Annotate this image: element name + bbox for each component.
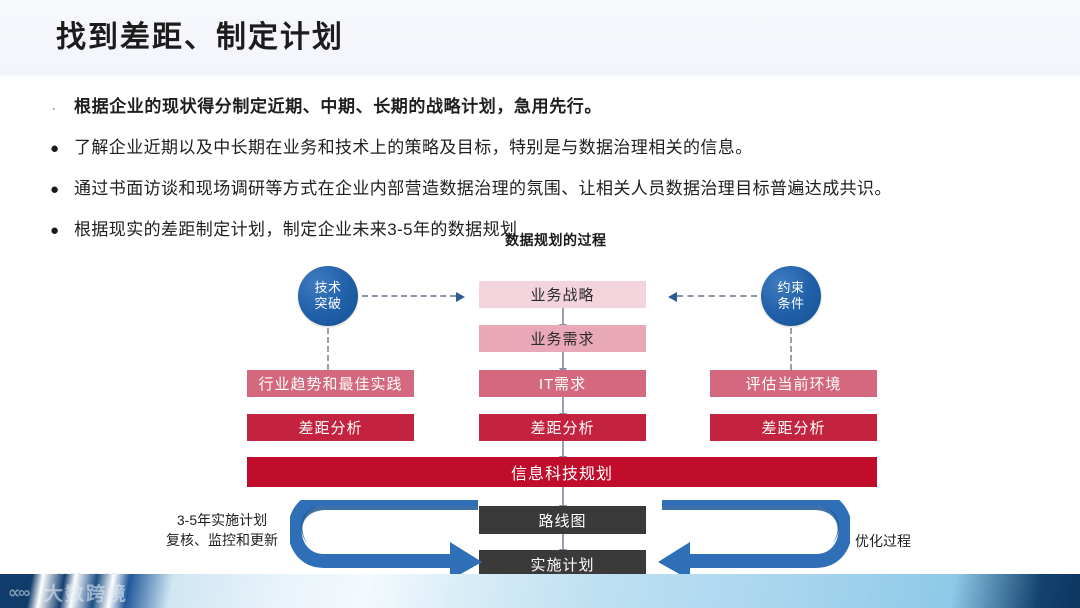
node-assess-environment: 评估当前环境	[710, 370, 877, 397]
loop-arrow-right-icon	[655, 500, 850, 582]
list-item: ● 通过书面访谈和现场调研等方式在企业内部营造数据治理的氛围、让相关人员数据治理…	[48, 178, 1058, 219]
label-line1: 3-5年实施计划	[152, 510, 292, 530]
page-title: 找到差距、制定计划	[56, 16, 344, 60]
node-business-strategy: 业务战略	[479, 281, 646, 308]
dashed-connector-left	[327, 328, 329, 370]
node-constraints: 约束 条件	[761, 266, 821, 326]
bullet-text: 根据企业的现状得分制定近期、中期、长期的战略计划，急用先行。	[74, 96, 602, 118]
slide-root: 找到差距、制定计划 · 根据企业的现状得分制定近期、中期、长期的战略计划，急用先…	[0, 0, 1080, 608]
bullet-marker-icon: ·	[48, 98, 74, 120]
diagram-title: 数据规划的过程	[505, 230, 607, 250]
arrow-summary-to-roadmap	[562, 487, 564, 506]
watermark-text: 大数跨境	[44, 579, 128, 606]
node-it-requirement: IT需求	[479, 370, 646, 397]
node-technology-breakthrough: 技术 突破	[298, 266, 358, 326]
footer-decoration-band	[0, 574, 1080, 608]
node-roadmap: 路线图	[479, 506, 646, 534]
arrow-strategy-to-requirement	[562, 308, 564, 325]
arrow-roadmap-to-implementation	[562, 534, 564, 550]
process-diagram: 数据规划的过程 技术 突破 约束 条件 行业趋势和最佳实践 差距分析 业务战略 …	[0, 228, 1080, 578]
list-item: ● 了解企业近期以及中长期在业务和技术上的策略及目标，特别是与数据治理相关的信息…	[48, 137, 1058, 178]
dashed-connector-right	[790, 328, 792, 370]
arrow-it-to-gap	[562, 397, 564, 414]
dashed-arrow-left-to-center	[362, 295, 456, 297]
node-gap-analysis-right: 差距分析	[710, 414, 877, 441]
node-label-line2: 条件	[777, 296, 804, 312]
dashed-arrow-right-to-center	[677, 295, 757, 297]
list-item: · 根据企业的现状得分制定近期、中期、长期的战略计划，急用先行。	[48, 96, 1058, 137]
node-label-line2: 突破	[314, 296, 341, 312]
node-it-planning-summary: 信息科技规划	[247, 457, 877, 487]
bullet-text: 通过书面访谈和现场调研等方式在企业内部营造数据治理的氛围、让相关人员数据治理目标…	[74, 178, 892, 200]
bullet-marker-icon: ●	[48, 138, 74, 160]
arrow-requirement-to-it	[562, 352, 564, 369]
arrow-gap-to-plan	[562, 441, 564, 457]
label-line2: 复核、监控和更新	[152, 530, 292, 550]
watermark: ∝∞ 大数跨境	[8, 579, 128, 606]
node-industry-trends: 行业趋势和最佳实践	[247, 370, 414, 397]
loop-arrow-left-icon	[290, 500, 485, 582]
node-gap-analysis-left: 差距分析	[247, 414, 414, 441]
bullet-marker-icon: ●	[48, 179, 74, 201]
watermark-logo-icon: ∝∞	[8, 584, 38, 602]
node-business-requirement: 业务需求	[479, 325, 646, 352]
label-optimization-process: 优化过程	[855, 531, 911, 551]
label-implementation-note: 3-5年实施计划 复核、监控和更新	[152, 510, 292, 550]
node-label-line1: 技术	[314, 280, 341, 296]
bullet-text: 了解企业近期以及中长期在业务和技术上的策略及目标，特别是与数据治理相关的信息。	[74, 137, 753, 159]
node-label-line1: 约束	[777, 280, 804, 296]
node-gap-analysis-center: 差距分析	[479, 414, 646, 441]
